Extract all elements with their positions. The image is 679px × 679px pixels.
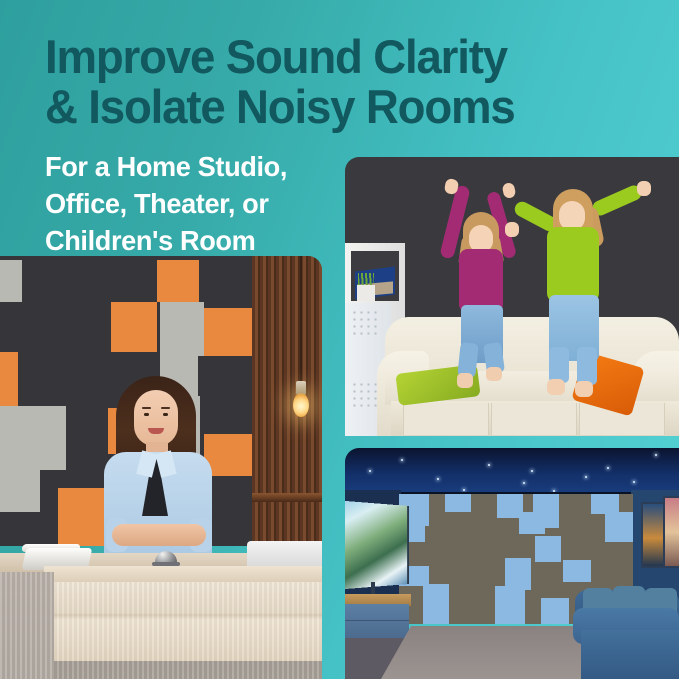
starlit-ceiling: [345, 448, 679, 496]
panel-blue: [563, 560, 591, 582]
panel-orange: [58, 488, 106, 546]
ceiling-star: [523, 482, 525, 484]
child-a-foot-left: [457, 373, 473, 388]
ceiling-star: [655, 454, 657, 456]
panel-blue: [541, 598, 569, 624]
plant-pot: [357, 285, 375, 301]
headline-line-1: Improve Sound Clarity: [45, 32, 627, 82]
ceiling-star: [369, 470, 371, 472]
panel-orange: [0, 352, 18, 408]
panel-blue: [605, 512, 633, 542]
desk-lower-panel: [52, 661, 322, 679]
panel-orange: [111, 302, 157, 352]
panel-grey: [160, 302, 204, 356]
panel-blue: [495, 586, 525, 624]
panel-blue: [445, 494, 471, 512]
ceiling-star: [633, 481, 635, 483]
ceiling-star: [585, 476, 587, 478]
ceiling-star: [531, 470, 533, 472]
panel-blue: [519, 512, 545, 534]
person-folded-arms: [112, 524, 206, 546]
person-eyebrow-right: [161, 407, 170, 409]
ceiling-star: [401, 459, 403, 461]
ceiling-star: [607, 467, 609, 469]
panel-blue: [535, 536, 561, 562]
child-a-top-magenta: [459, 249, 503, 313]
child-b-foot-left: [547, 379, 565, 395]
subheading-line-3: Children's Room: [45, 222, 355, 259]
cabinet-perforation: [351, 309, 381, 337]
movie-poster: [663, 496, 679, 568]
media-console-seam: [345, 620, 409, 621]
subheading-line-2: Office, Theater, or: [45, 185, 355, 222]
child-b-leg-left: [549, 347, 569, 383]
ceiling-star: [437, 478, 439, 480]
television-screen: [345, 501, 409, 590]
panel-blue: [591, 494, 619, 514]
promo-banner: Improve Sound Clarity & Isolate Noisy Ro…: [0, 0, 679, 679]
sofa-cushion: [491, 403, 577, 435]
ceiling-star: [463, 489, 465, 491]
panel-grey: [0, 462, 40, 512]
edison-bulb-icon: [293, 393, 309, 417]
desk-front-panel: [52, 582, 322, 664]
child-b-top-lime: [547, 227, 599, 303]
page-title: Improve Sound Clarity & Isolate Noisy Ro…: [45, 32, 645, 132]
desk-side-panel: [0, 572, 54, 679]
person-eye-left: [144, 413, 149, 416]
person-face: [134, 390, 178, 446]
headline-line-2: & Isolate Noisy Rooms: [45, 82, 627, 132]
subheading-line-1: For a Home Studio,: [45, 148, 355, 185]
child-b-hand-right: [637, 181, 651, 196]
child-a-foot-right: [486, 367, 502, 381]
wood-slat-wall: [252, 256, 322, 556]
wood-shelf: [252, 493, 322, 502]
photo-home-theater: [345, 448, 679, 679]
child-b-foot-right: [575, 381, 593, 397]
pendant-cord: [300, 256, 302, 384]
person-eye-right: [163, 413, 168, 416]
ceiling-star: [488, 464, 490, 466]
theater-sofa-chaise: [581, 630, 679, 679]
child-b-leg-right: [577, 347, 597, 385]
sofa-cushion: [403, 403, 489, 435]
child-b-hand-left: [505, 222, 519, 237]
panel-blue: [423, 584, 449, 624]
panel-orange: [157, 260, 199, 302]
photo-children-room: [345, 157, 679, 436]
person-eyebrow-left: [142, 407, 151, 409]
panel-orange: [204, 308, 252, 356]
panel-grey: [0, 260, 22, 302]
photo-office-reception: [0, 256, 322, 679]
movie-poster: [641, 502, 665, 568]
panel-grey: [0, 406, 66, 470]
subheading: For a Home Studio, Office, Theater, or C…: [45, 148, 365, 259]
